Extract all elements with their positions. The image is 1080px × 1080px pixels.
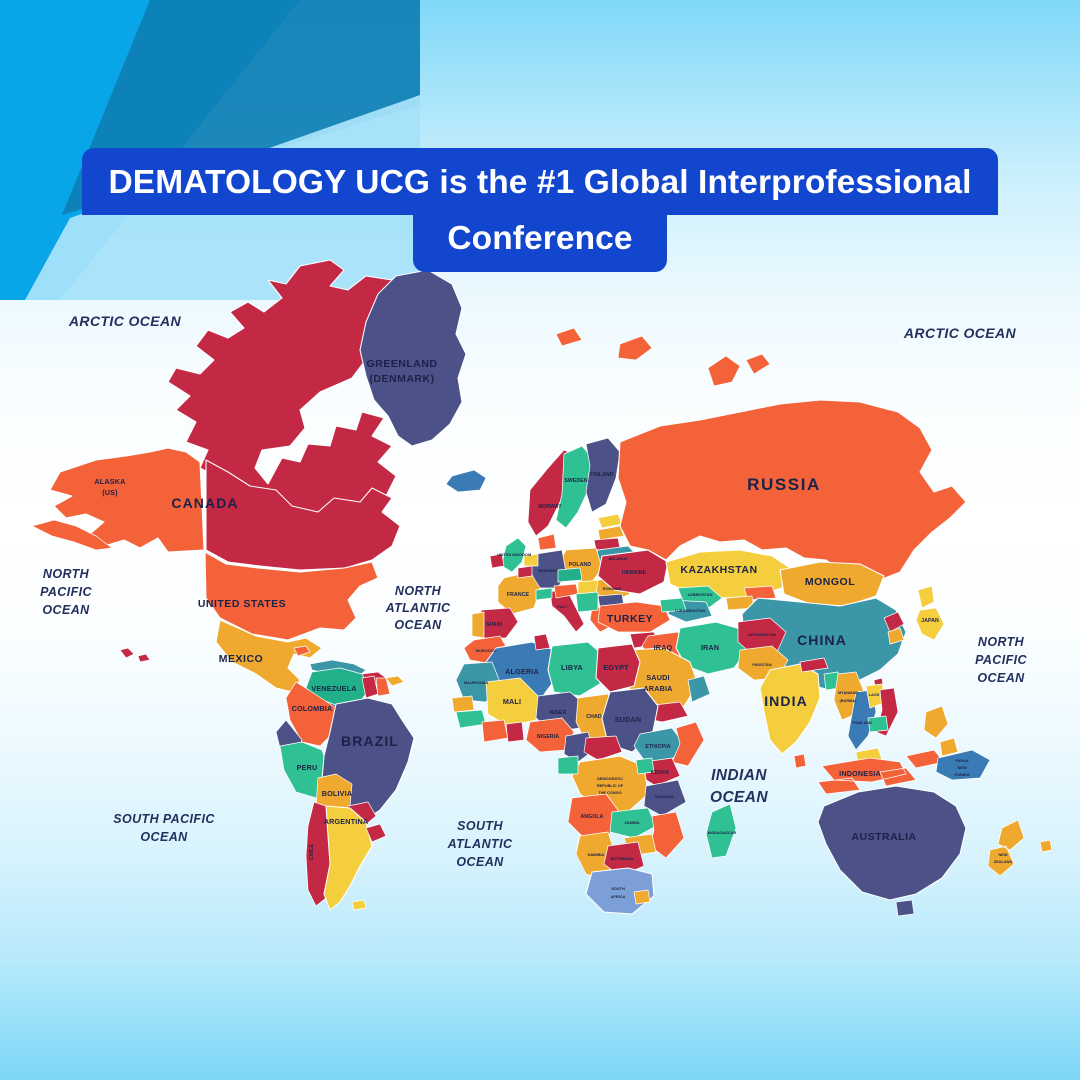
svg-text:SOUTH: SOUTH <box>457 819 503 833</box>
title-line-1: DEMATOLOGY UCG is the #1 Global Interpro… <box>82 148 997 215</box>
label-turkey: TURKEY <box>607 613 653 625</box>
label-nigeria: NIGERIA <box>537 734 559 740</box>
label-mali: MALI <box>503 697 521 706</box>
label-canada: CANADA <box>171 495 238 511</box>
label-japan: JAPAN <box>921 618 939 624</box>
country-shape-gabon[interactable] <box>558 756 578 774</box>
label-greenland-l2: (DENMARK) <box>369 373 434 385</box>
country-shape-lesotho[interactable] <box>634 890 650 904</box>
label-mexico: MEXICO <box>219 653 263 665</box>
label-argentina: ARGENTINA <box>324 817 369 826</box>
label-brazil: BRAZIL <box>341 733 399 749</box>
label-romania: ROMANIA <box>603 586 622 591</box>
svg-text:OCEAN: OCEAN <box>394 618 442 632</box>
label-spain: SPAIN <box>486 622 502 628</box>
label-egypt: EGYPT <box>603 663 629 672</box>
svg-text:INDIAN: INDIAN <box>711 767 767 784</box>
label-poland: POLAND <box>569 562 592 568</box>
country-shape-belgium[interactable] <box>518 566 532 578</box>
country-shape-portugal[interactable] <box>472 612 484 638</box>
country-shape-guinea[interactable] <box>456 710 486 728</box>
region-north-america <box>32 260 404 720</box>
title-line-2: Conference <box>413 215 666 272</box>
label-united-states: UNITED STATES <box>198 598 286 610</box>
label-finland: FINLAND <box>590 472 614 478</box>
label-alaska-l2: (US) <box>102 488 118 497</box>
poster-root: DEMATOLOGY UCG is the #1 Global Interpro… <box>0 0 1080 1080</box>
label-greenland-l1: GREENLAND <box>366 358 437 370</box>
label-drc-l2: REPUBLIC OF <box>597 783 624 788</box>
country-shape-sri-lanka <box>794 754 806 768</box>
svg-text:NORTH: NORTH <box>978 635 1025 649</box>
label-drc-l1: DEMOCRATIC <box>597 776 623 781</box>
label-png-l1: PAPUA <box>955 758 969 763</box>
svg-text:OCEAN: OCEAN <box>977 671 1025 685</box>
label-turkmenistan: TURKMENISTAN <box>675 608 706 613</box>
label-libya: LIBYA <box>561 663 583 672</box>
label-png-l2: NEW <box>957 765 966 770</box>
label-uzbekistan: UZBEKISTAN <box>688 592 713 597</box>
country-shape-tasmania <box>896 900 914 916</box>
label-saudi-l1: SAUDI <box>646 673 669 682</box>
world-map: ARCTIC OCEAN ARCTIC OCEAN NORTH PACIFIC … <box>0 250 1080 930</box>
svg-text:OCEAN: OCEAN <box>42 603 90 617</box>
country-shape-serbia-balkan[interactable] <box>576 592 598 612</box>
country-shape-czechia[interactable] <box>558 568 582 582</box>
svg-text:SOUTH PACIFIC: SOUTH PACIFIC <box>113 812 215 826</box>
label-pakistan: PAKISTAN <box>752 662 771 667</box>
label-sudan: SUDAN <box>615 715 642 724</box>
svg-text:OCEAN: OCEAN <box>710 789 768 806</box>
label-peru: PERU <box>297 763 318 772</box>
country-shape-philippines[interactable] <box>924 706 958 756</box>
svg-text:PACIFIC: PACIFIC <box>40 585 92 599</box>
label-kenya: KENYA <box>651 770 669 776</box>
label-russia: RUSSIA <box>747 475 821 494</box>
ocean-label-arctic-east: ARCTIC OCEAN <box>903 325 1017 341</box>
country-shape-japan[interactable] <box>916 586 944 640</box>
country-shape-denmark[interactable] <box>538 534 556 550</box>
label-uk: UNITED KINGDOM <box>497 552 531 557</box>
label-png-l3: GUINEA <box>954 772 969 777</box>
label-belarus: BELARUS <box>609 556 628 561</box>
label-chile: CHILE <box>309 844 315 861</box>
country-shape-india[interactable] <box>760 664 820 754</box>
label-italy: ITALY <box>557 604 568 609</box>
label-south-africa-l2: AFRICA <box>611 894 626 899</box>
country-shape-iceland[interactable] <box>446 470 486 492</box>
title-banner: DEMATOLOGY UCG is the #1 Global Interpro… <box>0 148 1080 272</box>
label-kazakhstan: KAZAKHSTAN <box>680 564 757 576</box>
label-myanmar-l2: (BURMA) <box>839 698 857 703</box>
label-algeria: ALGERIA <box>505 667 539 676</box>
label-morocco: MOROCCO <box>476 648 497 653</box>
label-colombia: COLOMBIA <box>292 704 333 713</box>
label-alaska-l1: ALASKA <box>94 477 125 486</box>
label-iraq: IRAQ <box>654 643 673 652</box>
label-ethiopia: ETHIOPIA <box>645 744 670 750</box>
ocean-label-arctic-west: ARCTIC OCEAN <box>68 313 182 329</box>
country-shape-hawaii <box>120 648 150 662</box>
ocean-label-south-atlantic: SOUTH ATLANTIC OCEAN <box>447 819 513 869</box>
svg-text:NORTH: NORTH <box>43 567 90 581</box>
country-shape-svalbard <box>556 328 652 360</box>
label-saudi-l2: ARABIA <box>643 684 672 693</box>
country-shape-oman[interactable] <box>688 676 710 702</box>
label-norway: NORWAY <box>538 504 562 510</box>
country-shape-tunisia[interactable] <box>534 634 550 650</box>
label-indonesia: INDONESIA <box>839 769 881 778</box>
svg-text:ATLANTIC: ATLANTIC <box>385 601 451 615</box>
svg-text:ATLANTIC: ATLANTIC <box>447 837 513 851</box>
label-tanzania: TANZANIA <box>654 794 674 799</box>
ocean-label-south-pacific: SOUTH PACIFIC OCEAN <box>113 812 215 844</box>
country-shape-ghana[interactable] <box>506 722 524 742</box>
label-myanmar-l1: MYANMAR <box>838 690 858 695</box>
svg-text:PACIFIC: PACIFIC <box>975 653 1027 667</box>
label-mongolia: MONGOL <box>805 576 855 588</box>
country-shape-ivory-coast[interactable] <box>482 720 508 742</box>
label-australia: AUSTRALIA <box>851 831 916 843</box>
country-shape-new-zealand[interactable] <box>988 820 1024 876</box>
label-afghanistan: AFGHANISTAN <box>748 632 776 637</box>
label-venezuela: VENEZUELA <box>311 684 356 693</box>
ocean-label-north-atlantic: NORTH ATLANTIC OCEAN <box>385 584 451 632</box>
label-france: FRANCE <box>507 592 530 598</box>
country-shape-australia[interactable] <box>818 786 966 900</box>
label-angola: ANGOLA <box>580 814 603 820</box>
svg-text:OCEAN: OCEAN <box>140 830 188 844</box>
label-drc-l3: THE CONGO <box>598 790 622 795</box>
label-ukraine: UKRAINE <box>622 570 647 576</box>
label-iran: IRAN <box>701 643 719 652</box>
label-zambia: ZAMBIA <box>624 820 639 825</box>
country-shape-senegal-gambia[interactable] <box>452 696 474 712</box>
country-shape-switzerland[interactable] <box>536 588 552 600</box>
label-niger: NIGER <box>550 710 567 716</box>
svg-text:NORTH: NORTH <box>395 584 442 598</box>
label-germany: GERMANY <box>538 568 558 573</box>
label-new-zealand-l1: NEW <box>998 852 1007 857</box>
label-thailand: THAILAND <box>852 720 872 725</box>
label-botswana: BOTSWANA <box>611 856 634 861</box>
label-new-zealand-l2: ZEALAND <box>994 859 1013 864</box>
label-chad: CHAD <box>586 714 602 720</box>
country-shape-estonia[interactable] <box>598 514 622 528</box>
label-madagascar: MADAGASCAR <box>708 830 737 835</box>
ocean-label-north-pacific-west: NORTH PACIFIC OCEAN <box>40 567 92 617</box>
country-shape-austria[interactable] <box>554 584 578 598</box>
svg-text:OCEAN: OCEAN <box>456 855 504 869</box>
label-namibia: NAMIBIA <box>588 852 605 857</box>
label-china: CHINA <box>797 632 847 648</box>
label-bolivia: BOLIVIA <box>322 789 353 798</box>
label-india: INDIA <box>764 693 808 709</box>
label-laos: LAOS <box>869 692 880 697</box>
ocean-label-indian: INDIAN OCEAN <box>710 767 768 806</box>
label-south-africa-l1: SOUTH <box>611 886 625 891</box>
label-mauritania: MAURITANIA <box>464 680 489 685</box>
country-shape-pacific-islet <box>1040 840 1052 852</box>
country-shape-falklands <box>352 900 366 910</box>
ocean-label-north-pacific-east: NORTH PACIFIC OCEAN <box>975 635 1027 685</box>
label-sweden: SWEDEN <box>564 478 588 484</box>
country-shape-novaya-zemlya <box>708 354 770 386</box>
